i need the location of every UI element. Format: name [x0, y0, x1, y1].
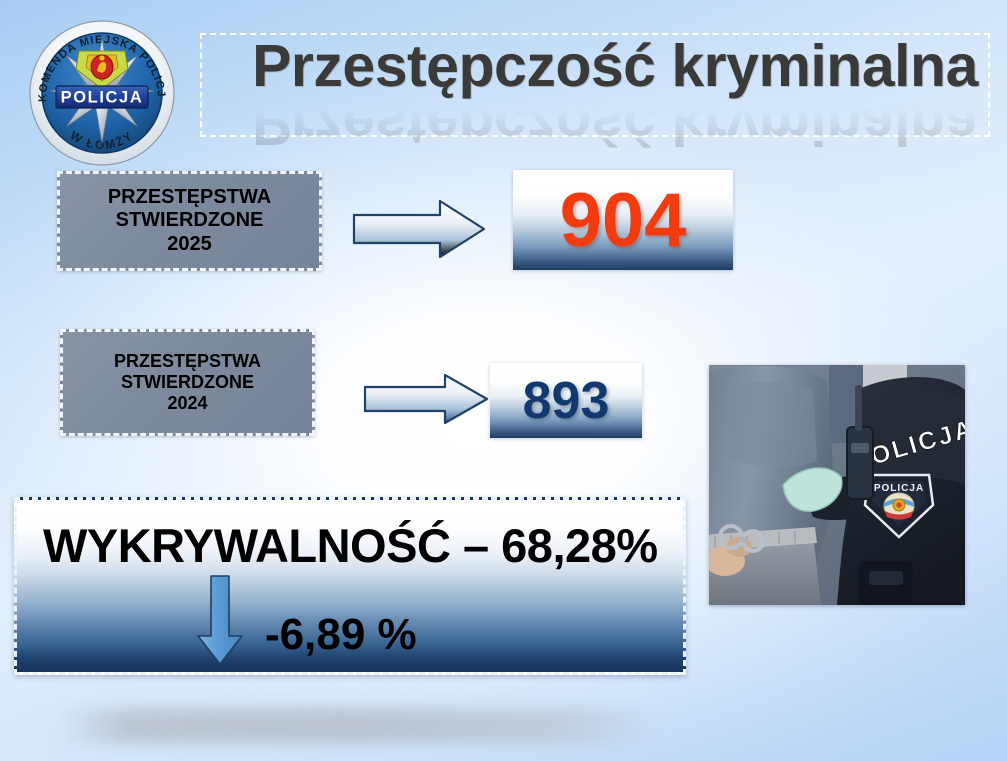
- label-box-2025: PRZESTĘPSTWA STWIERDZONE 2025: [57, 171, 322, 271]
- value-2025: 904: [560, 177, 687, 264]
- arrow-right-icon-2025: [352, 198, 486, 260]
- footer-smudge: [55, 708, 655, 744]
- police-badge-logo: KOMENDA MIEJSKA POLICJI W ŁOMŻY: [22, 17, 182, 169]
- label-2025-line1: PRZESTĘPSTWA: [108, 186, 271, 210]
- arrow-down-icon: [195, 574, 245, 666]
- slide-canvas: KOMENDA MIEJSKA POLICJI W ŁOMŻY: [0, 0, 1007, 761]
- svg-text:POLICJA: POLICJA: [61, 89, 144, 107]
- page-title: Przestępczość kryminalna: [250, 30, 980, 112]
- label-2024-line2: STWIERDZONE: [121, 372, 254, 393]
- arrest-photo: POLICJA POLICJA: [709, 365, 965, 605]
- label-2025-line3: 2025: [167, 233, 212, 257]
- detection-rate-change: -6,89 %: [265, 610, 417, 660]
- value-box-2025: 904: [513, 170, 733, 270]
- detection-rate-headline: WYKRYWALNOŚĆ – 68,28%: [43, 518, 668, 573]
- label-2024-line3: 2024: [167, 393, 207, 414]
- label-2025-line2: STWIERDZONE: [116, 209, 264, 233]
- arrow-right-icon-2024: [363, 372, 489, 426]
- value-2024: 893: [523, 371, 610, 431]
- label-box-2024: PRZESTĘPSTWA STWIERDZONE 2024: [60, 329, 315, 436]
- value-box-2024: 893: [490, 363, 642, 438]
- badge-policja-banner: POLICJA: [56, 86, 148, 108]
- detection-rate-banner: WYKRYWALNOŚĆ – 68,28% -6,89 %: [14, 497, 686, 675]
- svg-text:POLICJA: POLICJA: [874, 483, 924, 494]
- label-2024-line1: PRZESTĘPSTWA: [114, 351, 261, 372]
